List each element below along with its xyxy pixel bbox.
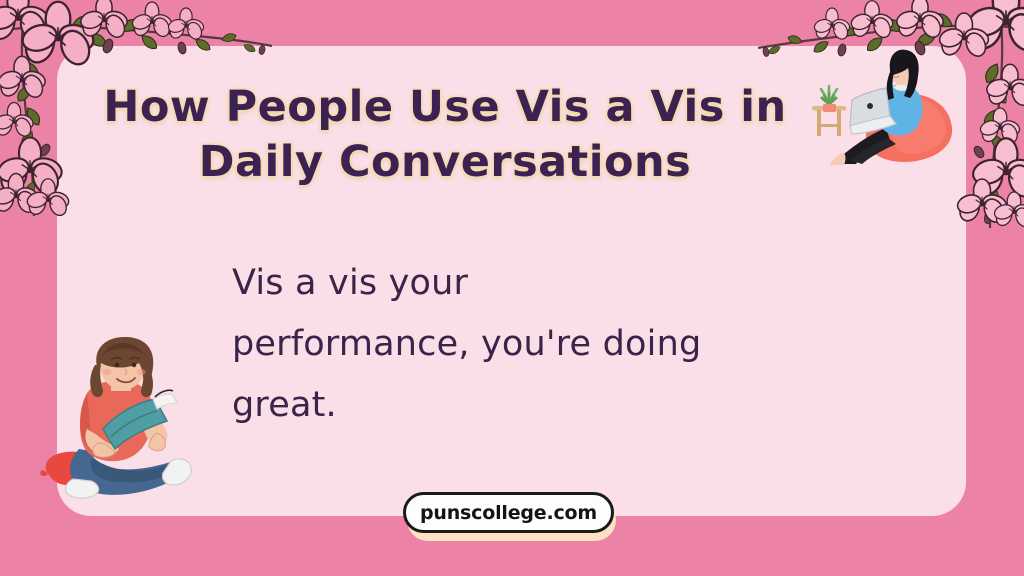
poster-canvas: How People Use Vis a Vis in Daily Conver…: [0, 0, 1024, 576]
website-badge-pill[interactable]: punscollege.com: [403, 492, 614, 533]
illustration-woman-with-laptop: [800, 42, 965, 167]
illustration-girl-reading: [35, 337, 220, 519]
website-badge[interactable]: punscollege.com: [403, 492, 618, 537]
website-badge-label: punscollege.com: [420, 502, 597, 524]
